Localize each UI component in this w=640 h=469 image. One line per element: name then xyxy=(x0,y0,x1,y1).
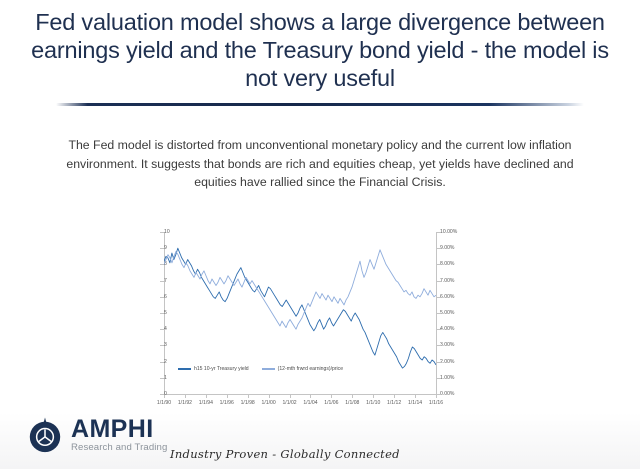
y-axis-tick-right: 1.00% xyxy=(440,375,454,381)
x-axis-tick: 1/1/96 xyxy=(220,400,234,406)
x-axis-tickmark xyxy=(290,395,291,398)
x-axis-tick: 1/1/14 xyxy=(408,400,422,406)
x-axis-tick: 1/1/08 xyxy=(345,400,359,406)
slide-subtitle: The Fed model is distorted from unconven… xyxy=(52,136,588,192)
y-axis-tick-right: 5.00% xyxy=(440,310,454,316)
x-axis-tickmark xyxy=(206,395,207,398)
x-axis-tick: 1/1/90 xyxy=(157,400,171,406)
y-axis-tickmark-right xyxy=(437,345,441,346)
legend-swatch-icon xyxy=(178,368,191,370)
fed-model-chart: 012345678910 0.00%1.00%2.00%3.00%4.00%5.… xyxy=(142,228,494,412)
y-axis-tickmark-right xyxy=(437,297,441,298)
chart-series-line xyxy=(164,248,436,368)
x-axis-tickmark xyxy=(352,395,353,398)
y-axis-tickmark-right xyxy=(437,362,441,363)
y-axis-tickmark-right xyxy=(437,394,441,395)
x-axis-tickmark xyxy=(185,395,186,398)
y-axis-tick-right: 10.00% xyxy=(440,229,457,235)
x-axis-tick: 1/1/98 xyxy=(241,400,255,406)
logo-wordmark: AMPHI xyxy=(71,417,167,442)
x-axis-tick: 1/1/12 xyxy=(387,400,401,406)
x-axis-tick: 1/1/04 xyxy=(303,400,317,406)
x-axis-tick: 1/1/94 xyxy=(199,400,213,406)
x-axis-tick: 1/1/10 xyxy=(366,400,380,406)
y-axis-tickmark-right xyxy=(437,264,441,265)
y-axis-tickmark-right xyxy=(437,313,441,314)
page-title: Fed valuation model shows a large diverg… xyxy=(24,8,616,92)
y-axis-tick-right: 0.00% xyxy=(440,391,454,397)
amphi-logo-icon xyxy=(26,416,64,454)
x-axis-tickmark xyxy=(269,395,270,398)
legend-item: h15 10-yr Treasury yield xyxy=(178,366,249,372)
legend-item: (12-mth frwrd earnings)/price xyxy=(262,366,343,372)
y-axis-tickmark-right xyxy=(437,281,441,282)
x-axis-tickmark xyxy=(331,395,332,398)
y-axis-tickmark-right xyxy=(437,329,441,330)
x-axis-tickmark xyxy=(310,395,311,398)
y-axis-tick-right: 4.00% xyxy=(440,326,454,332)
x-axis-tickmark xyxy=(248,395,249,398)
x-axis-tickmark xyxy=(164,395,165,398)
amphi-logo: AMPHI Research and Trading xyxy=(26,416,167,454)
x-axis-tickmark xyxy=(415,395,416,398)
y-axis-tickmark-right xyxy=(437,378,441,379)
chart-legend: h15 10-yr Treasury yield(12-mth frwrd ea… xyxy=(178,366,343,372)
x-axis-tick: 1/1/02 xyxy=(282,400,296,406)
logo-tagline-sub: Research and Trading xyxy=(71,443,167,453)
legend-label: (12-mth frwrd earnings)/price xyxy=(278,366,343,372)
y-axis-tick-right: 2.00% xyxy=(440,359,454,365)
y-axis-tick-right: 9.00% xyxy=(440,245,454,251)
x-axis-tickmark xyxy=(436,395,437,398)
y-axis-tick-right: 8.00% xyxy=(440,261,454,267)
y-axis-tick-right: 7.00% xyxy=(440,278,454,284)
legend-label: h15 10-yr Treasury yield xyxy=(194,366,249,372)
x-axis-tick: 1/1/16 xyxy=(429,400,443,406)
y-axis-tickmark-right xyxy=(437,232,441,233)
y-axis-tickmark-right xyxy=(437,248,441,249)
x-axis-tickmark xyxy=(373,395,374,398)
footer-tagline: Industry Proven - Globally Connected xyxy=(170,447,400,461)
x-axis-tick: 1/1/92 xyxy=(178,400,192,406)
x-axis-tickmark xyxy=(394,395,395,398)
y-axis-tick-right: 6.00% xyxy=(440,294,454,300)
x-axis-tick: 1/1/00 xyxy=(262,400,276,406)
y-axis-tick-right: 3.00% xyxy=(440,342,454,348)
legend-swatch-icon xyxy=(262,368,275,370)
x-axis-tickmark xyxy=(227,395,228,398)
chart-series-line xyxy=(164,250,436,329)
title-divider xyxy=(56,103,584,106)
x-axis-tick: 1/1/06 xyxy=(324,400,338,406)
